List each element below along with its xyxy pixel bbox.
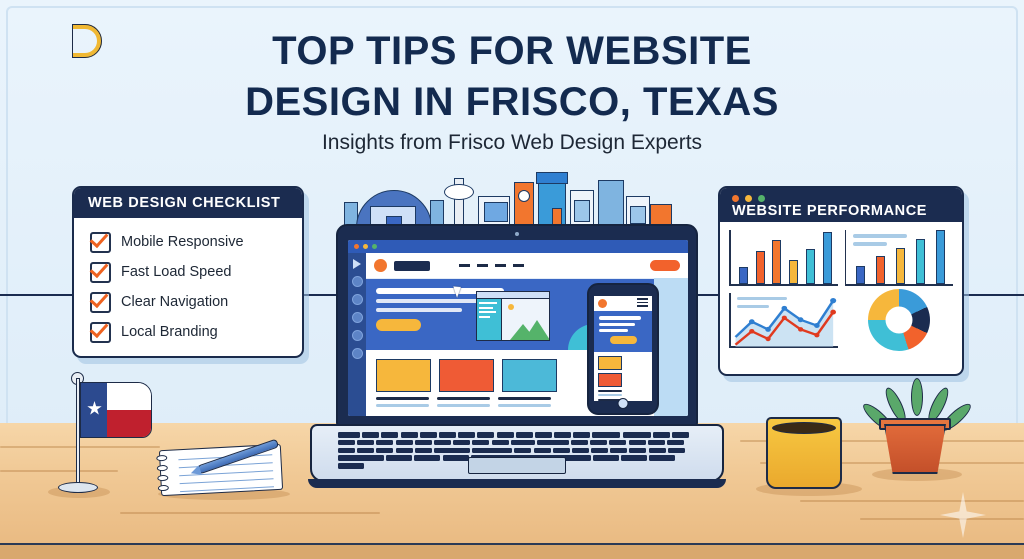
sidebar-panel-strip xyxy=(654,278,688,416)
mobile-card[interactable] xyxy=(598,356,622,370)
donut-ring xyxy=(868,289,930,351)
feature-card[interactable] xyxy=(376,359,431,392)
editor-sidebar xyxy=(348,253,366,416)
phone-card-grid xyxy=(594,352,652,401)
flag-stand-base xyxy=(58,482,98,493)
checklist-item-label: Clear Navigation xyxy=(121,294,228,310)
line-chart-sessions xyxy=(729,293,838,349)
window-dots xyxy=(732,195,765,202)
traffic-light-red-icon[interactable] xyxy=(732,195,739,202)
laptop-base xyxy=(310,424,724,482)
phone-screen xyxy=(594,296,652,401)
orange-dot-logo-icon xyxy=(598,299,607,308)
traffic-light-green-icon[interactable] xyxy=(372,244,377,249)
hero-cta-button[interactable] xyxy=(376,319,421,331)
feature-card[interactable] xyxy=(502,359,557,392)
phone-navbar xyxy=(594,296,652,311)
performance-title: WEBSITE PERFORMANCE xyxy=(732,203,927,219)
phone-mockup xyxy=(587,283,659,415)
checkbox-checked-icon[interactable] xyxy=(90,232,111,253)
page-title: TOP TIPS FOR WEBSITE DESIGN IN FRISCO, T… xyxy=(0,26,1024,128)
desk-front-edge xyxy=(0,543,1024,559)
circle-icon[interactable] xyxy=(352,312,363,323)
performance-header: WEBSITE PERFORMANCE xyxy=(720,188,962,222)
cursor-arrow-icon[interactable] xyxy=(353,259,361,269)
site-navbar xyxy=(366,253,688,279)
performance-charts xyxy=(720,222,962,356)
nav-menu-item[interactable] xyxy=(513,264,524,266)
connector-right-stub xyxy=(956,294,1024,296)
laptop-base-lip xyxy=(308,479,726,488)
plant-leaf xyxy=(911,378,923,416)
webcam-icon xyxy=(515,232,519,236)
hero-text-line xyxy=(376,299,484,303)
checkbox-checked-icon[interactable] xyxy=(90,322,111,343)
texas-state-flag xyxy=(80,382,152,438)
title-line-1: TOP TIPS FOR WEBSITE xyxy=(0,26,1024,77)
traffic-light-yellow-icon[interactable] xyxy=(363,244,368,249)
checkbox-checked-icon[interactable] xyxy=(90,292,111,313)
city-skyline xyxy=(344,168,680,230)
traffic-light-yellow-icon[interactable] xyxy=(745,195,752,202)
traffic-light-red-icon[interactable] xyxy=(354,244,359,249)
page-subtitle: Insights from Frisco Web Design Experts xyxy=(0,131,1024,155)
browser-titlebar xyxy=(348,240,688,253)
hero-text-line xyxy=(376,308,462,312)
web-design-checklist-panel: WEB DESIGN CHECKLIST Mobile Responsive F… xyxy=(72,186,304,358)
circle-icon[interactable] xyxy=(352,276,363,287)
circle-icon[interactable] xyxy=(352,348,363,359)
call-to-action-button[interactable] xyxy=(650,260,680,271)
checklist-item-label: Fast Load Speed xyxy=(121,264,231,280)
nav-menu-item[interactable] xyxy=(495,264,506,266)
checklist-title: WEB DESIGN CHECKLIST xyxy=(88,195,280,211)
connector-left-stub xyxy=(0,294,72,296)
circle-icon[interactable] xyxy=(352,294,363,305)
image-placeholder-icon xyxy=(502,299,549,340)
mobile-card-caption xyxy=(598,390,622,396)
laptop-trackpad[interactable] xyxy=(468,457,566,474)
checklist-header: WEB DESIGN CHECKLIST xyxy=(74,188,302,218)
coffee-surface xyxy=(772,422,836,434)
orange-dot-logo-icon xyxy=(374,259,387,272)
circle-icon[interactable] xyxy=(352,330,363,341)
title-line-2: DESIGN IN FRISCO, TEXAS xyxy=(0,77,1024,128)
mouse-cursor-icon xyxy=(453,284,463,298)
checklist-item[interactable]: Clear Navigation xyxy=(90,287,302,317)
hamburger-menu-icon[interactable] xyxy=(637,298,648,309)
feature-card[interactable] xyxy=(439,359,494,392)
phone-hero-section xyxy=(594,311,652,352)
coffee-mug[interactable] xyxy=(766,417,842,489)
checklist-item[interactable]: Fast Load Speed xyxy=(90,257,302,287)
bar-chart-traffic xyxy=(729,230,838,286)
nav-menu-item[interactable] xyxy=(477,264,488,266)
nav-menu-item[interactable] xyxy=(459,264,470,266)
checklist-item-label: Mobile Responsive xyxy=(121,234,244,250)
checklist-items: Mobile Responsive Fast Load Speed Clear … xyxy=(74,218,302,347)
traffic-light-green-icon[interactable] xyxy=(758,195,765,202)
website-performance-panel: WEBSITE PERFORMANCE xyxy=(718,186,964,376)
bar-chart-growth xyxy=(845,230,954,286)
checklist-item[interactable]: Local Branding xyxy=(90,317,302,347)
donut-chart-audience xyxy=(845,293,954,349)
brand-name-pill xyxy=(394,261,430,271)
home-button[interactable] xyxy=(618,398,629,409)
mobile-cta-button[interactable] xyxy=(610,336,637,344)
checkbox-checked-icon[interactable] xyxy=(90,262,111,283)
image-preview-card xyxy=(476,291,550,341)
checklist-item[interactable]: Mobile Responsive xyxy=(90,227,302,257)
infographic-canvas: TOP TIPS FOR WEBSITE DESIGN IN FRISCO, T… xyxy=(0,0,1024,559)
checklist-item-label: Local Branding xyxy=(121,324,218,340)
mobile-card[interactable] xyxy=(598,373,622,387)
plant-pot[interactable] xyxy=(884,424,946,474)
